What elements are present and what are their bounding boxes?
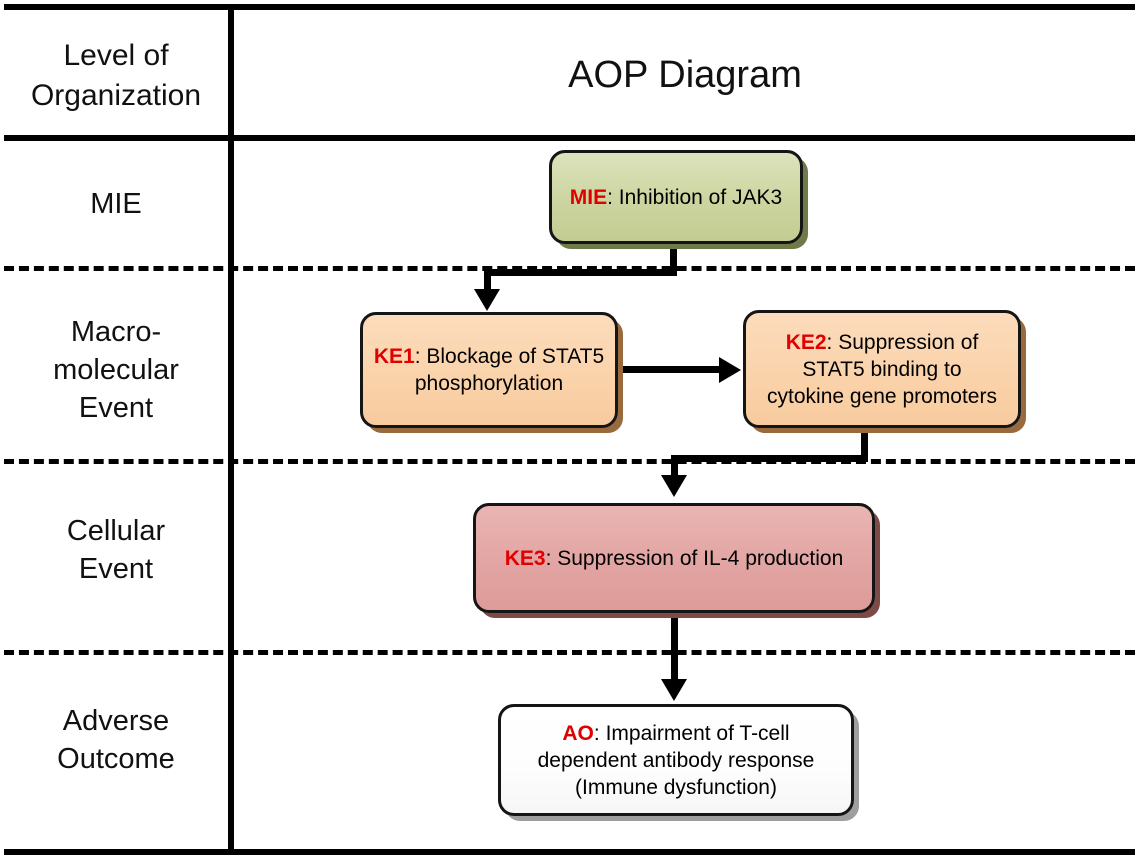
node-ke2-line-2: STAT5 binding to — [767, 356, 997, 383]
row-label-macromolecular-line-1: Macro- — [8, 313, 224, 351]
node-mie-separator: : — [607, 186, 619, 209]
node-ke2-line-3: cytokine gene promoters — [767, 383, 997, 410]
row-label-cellular-line-2: Event — [8, 550, 224, 588]
node-ke1-line-1: KE1: Blockage of STAT5 — [374, 343, 604, 370]
node-ke2-label-1: Suppression of — [838, 331, 978, 354]
row-label-adverse-outcome: Adverse Outcome — [8, 702, 224, 778]
node-ke1-separator: : — [415, 345, 427, 368]
row-label-adverse-line-1: Adverse — [8, 702, 224, 740]
aop-diagram-canvas: Level of Organization AOP Diagram MIE Ma… — [0, 0, 1142, 867]
level-header-line-2: Organization — [8, 76, 224, 116]
row-label-macromolecular-line-3: Event — [8, 389, 224, 427]
node-ke1-label-1: Blockage of STAT5 — [426, 345, 604, 368]
node-ao-line-3: (Immune dysfunction) — [538, 774, 815, 801]
node-ke2-code: KE2 — [786, 331, 827, 354]
row-label-cellular-event: Cellular Event — [8, 512, 224, 588]
row-label-cellular-line-1: Cellular — [8, 512, 224, 550]
page-title: AOP Diagram — [240, 52, 1130, 98]
edge-ke3-ao-arrowhead — [661, 679, 687, 701]
node-ao-label-1: Impairment of T-cell — [606, 722, 790, 745]
row-label-macromolecular-event: Macro- molecular Event — [8, 313, 224, 427]
row-label-mie-line-1: MIE — [8, 185, 224, 223]
row-label-mie: MIE — [8, 185, 224, 223]
node-mie-label-1: Inhibition of JAK3 — [619, 186, 782, 209]
edge-ke2-ke3-arrowhead — [661, 475, 687, 497]
node-ao-separator: : — [594, 722, 606, 745]
column-divider — [228, 4, 234, 855]
node-mie[interactable]: MIE: Inhibition of JAK3 — [549, 150, 803, 244]
row-divider-cellular-adverse — [4, 650, 1135, 655]
node-ke1-text: KE1: Blockage of STAT5 phosphorylation — [374, 343, 604, 397]
node-ke2-text: KE2: Suppression of STAT5 binding to cyt… — [767, 329, 997, 410]
node-ke2-line-1: KE2: Suppression of — [767, 329, 997, 356]
node-ke3-text: KE3: Suppression of IL-4 production — [505, 545, 844, 572]
node-mie-text: MIE: Inhibition of JAK3 — [570, 184, 782, 211]
edge-ke3-ao-segment-vertical — [671, 613, 678, 683]
node-mie-code: MIE — [570, 186, 607, 209]
frame-top-border — [4, 4, 1135, 10]
row-label-adverse-line-2: Outcome — [8, 740, 224, 778]
edge-ke1-ke2-arrowhead — [719, 357, 741, 383]
node-ao-text: AO: Impairment of T-cell dependent antib… — [538, 720, 815, 801]
row-label-macromolecular-line-2: molecular — [8, 351, 224, 389]
node-ke1[interactable]: KE1: Blockage of STAT5 phosphorylation — [360, 312, 618, 428]
node-ke1-code: KE1 — [374, 345, 415, 368]
node-ao-code: AO — [562, 722, 594, 745]
node-ke3-code: KE3 — [505, 547, 546, 570]
edge-mie-ke1-arrowhead — [474, 289, 500, 311]
row-divider-macromolecular-cellular — [4, 459, 1135, 464]
node-ke3-line-1: KE3: Suppression of IL-4 production — [505, 545, 844, 572]
node-ke1-line-2: phosphorylation — [374, 370, 604, 397]
node-ke3[interactable]: KE3: Suppression of IL-4 production — [473, 503, 875, 613]
node-ke3-separator: : — [546, 547, 558, 570]
node-ke3-label-1: Suppression of IL-4 production — [557, 547, 843, 570]
node-ao[interactable]: AO: Impairment of T-cell dependent antib… — [498, 704, 854, 816]
node-mie-line-1: MIE: Inhibition of JAK3 — [570, 184, 782, 211]
node-ke2-separator: : — [827, 331, 839, 354]
frame-bottom-border — [4, 849, 1135, 855]
edge-ke2-ke3-segment-horizontal — [671, 455, 868, 462]
edge-mie-ke1-segment-horizontal — [484, 269, 677, 276]
level-header-line-1: Level of — [63, 39, 168, 72]
node-ao-line-1: AO: Impairment of T-cell — [538, 720, 815, 747]
edge-ke1-ke2-segment-horizontal — [620, 366, 725, 373]
header-separator-line — [4, 135, 1135, 141]
node-ke2[interactable]: KE2: Suppression of STAT5 binding to cyt… — [743, 310, 1021, 428]
level-of-organization-header: Level of Organization — [8, 36, 224, 116]
node-ao-line-2: dependent antibody response — [538, 747, 815, 774]
